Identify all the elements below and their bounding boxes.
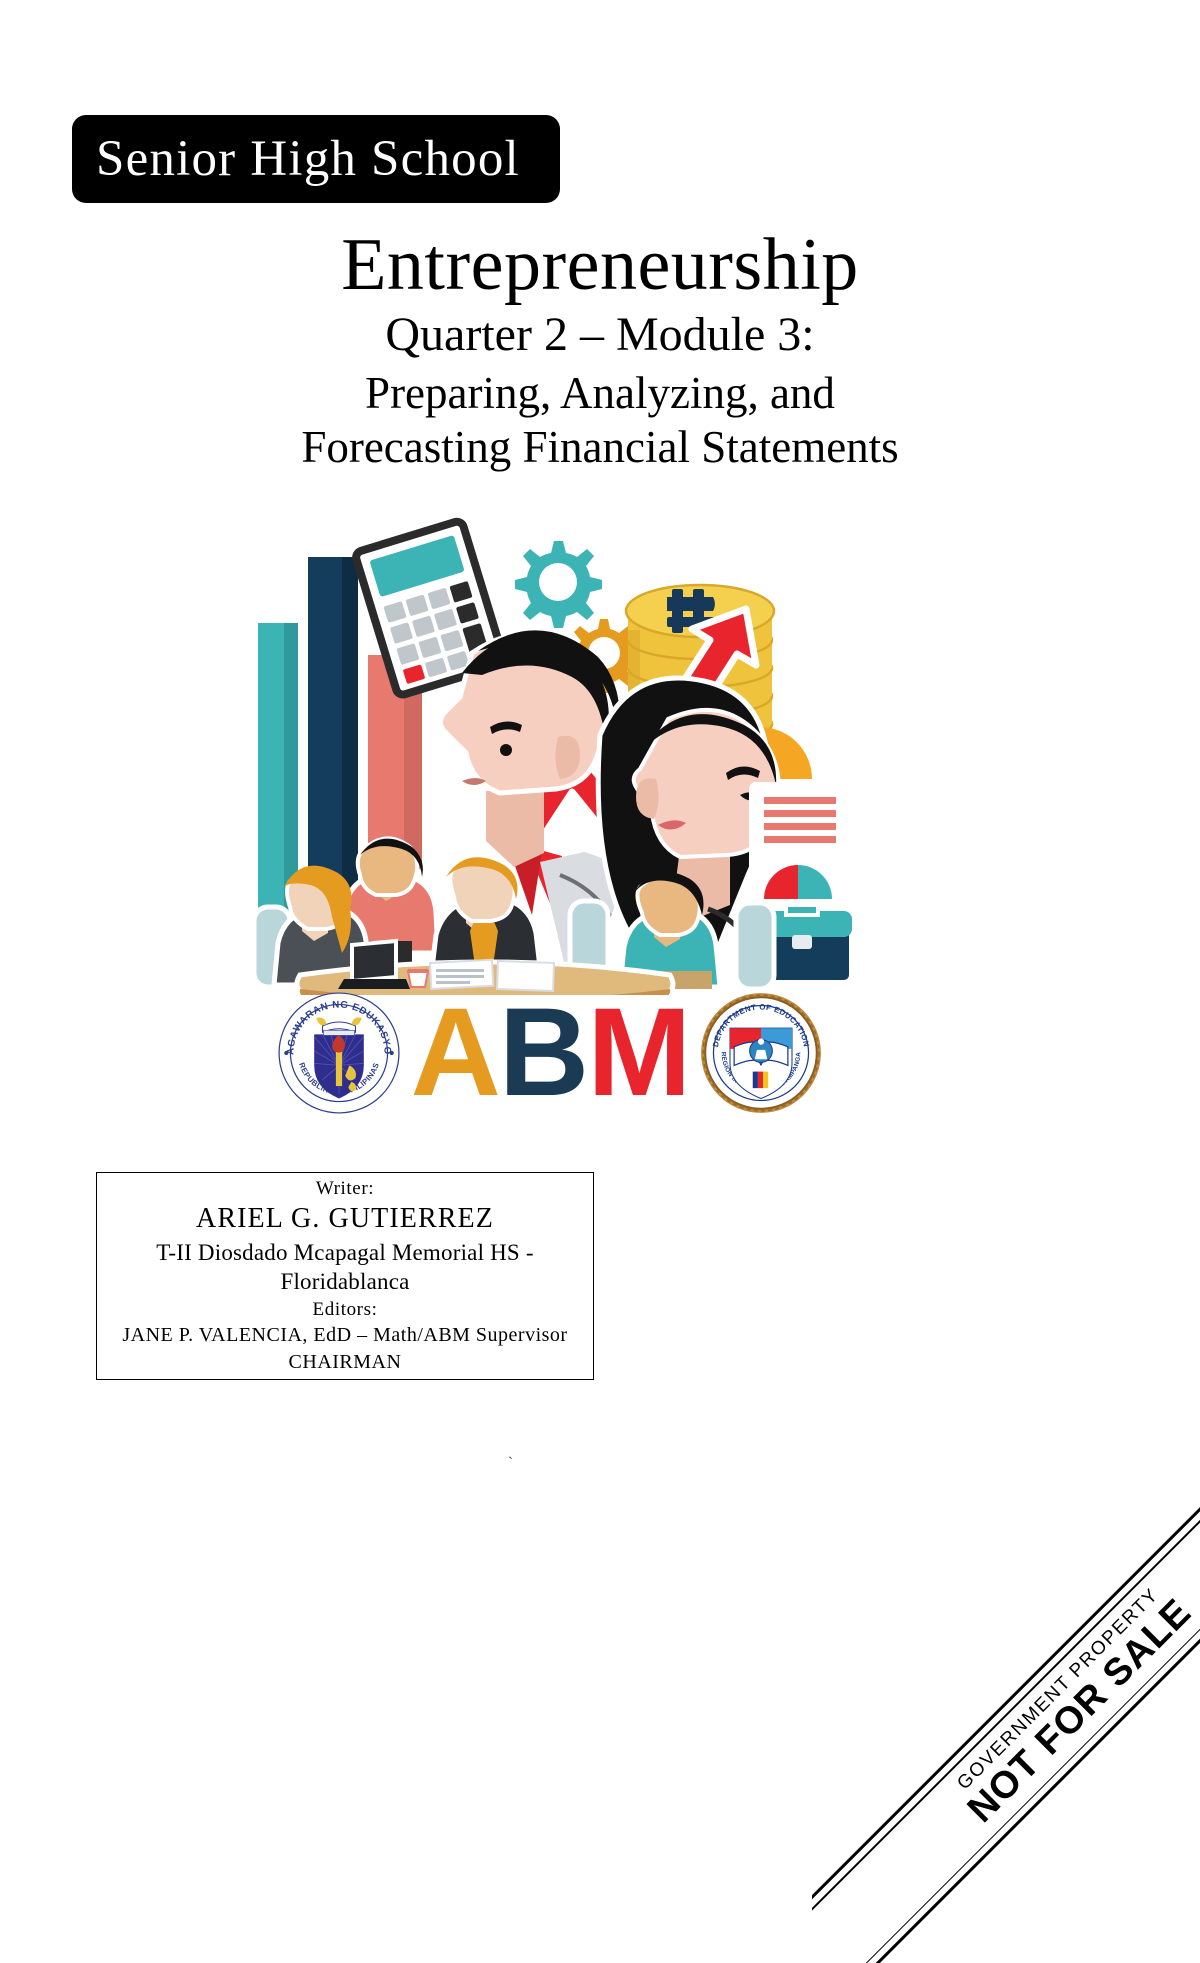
division-of-pampanga-seal: DEPARTMENT OF EDUCATION REGION III · DIV… [699,991,823,1115]
gear-teal-icon [515,541,602,628]
deped-seal: KAGAWARAN NG EDUKASYON REPUBLIKA NG PILI… [277,991,401,1115]
writer-label: Writer: [316,1176,374,1202]
government-property-banner: GOVERNMENT PROPERTY NOT FOR SALE [812,1443,1200,1963]
logo-row: KAGAWARAN NG EDUKASYON REPUBLIKA NG PILI… [240,985,860,1120]
senior-high-school-badge: Senior High School [72,115,560,203]
editor-role: CHAIRMAN [289,1349,402,1376]
banner-line-not-for-sale: NOT FOR SALE [961,1592,1198,1829]
banner-strip: GOVERNMENT PROPERTY NOT FOR SALE [812,1443,1200,1963]
editor-name: JANE P. VALENCIA, EdD – Math/ABM Supervi… [122,1322,567,1349]
writer-name: ARIEL G. GUTIERREZ [196,1201,494,1237]
report-document-icon [752,785,848,907]
subject-title: Entrepreneurship [0,228,1200,303]
credits-box: Writer: ARIEL G. GUTIERREZ T-II Diosdado… [96,1172,594,1380]
abm-letter-m: M [587,990,689,1115]
abm-letter-b: B [499,990,587,1115]
senior-high-school-label: Senior High School [96,134,520,185]
financial-statements-illustration [240,505,860,995]
footer-tick-mark: ` [508,1455,513,1472]
editors-label: Editors: [313,1297,378,1323]
abm-wordmark: A B M [411,990,690,1115]
title-block: Entrepreneurship Quarter 2 – Module 3: P… [0,228,1200,474]
module-topic-line-1: Preparing, Analyzing, and [0,366,1200,420]
abm-letter-a: A [411,990,499,1115]
quarter-module-label: Quarter 2 – Module 3: [0,307,1200,364]
banner-line-government-property: GOVERNMENT PROPERTY [954,1585,1162,1793]
module-topic-line-2: Forecasting Financial Statements [0,420,1200,474]
writer-school: T-II Diosdado Mcapagal Memorial HS - Flo… [110,1238,580,1297]
illustration-svg [240,505,860,995]
